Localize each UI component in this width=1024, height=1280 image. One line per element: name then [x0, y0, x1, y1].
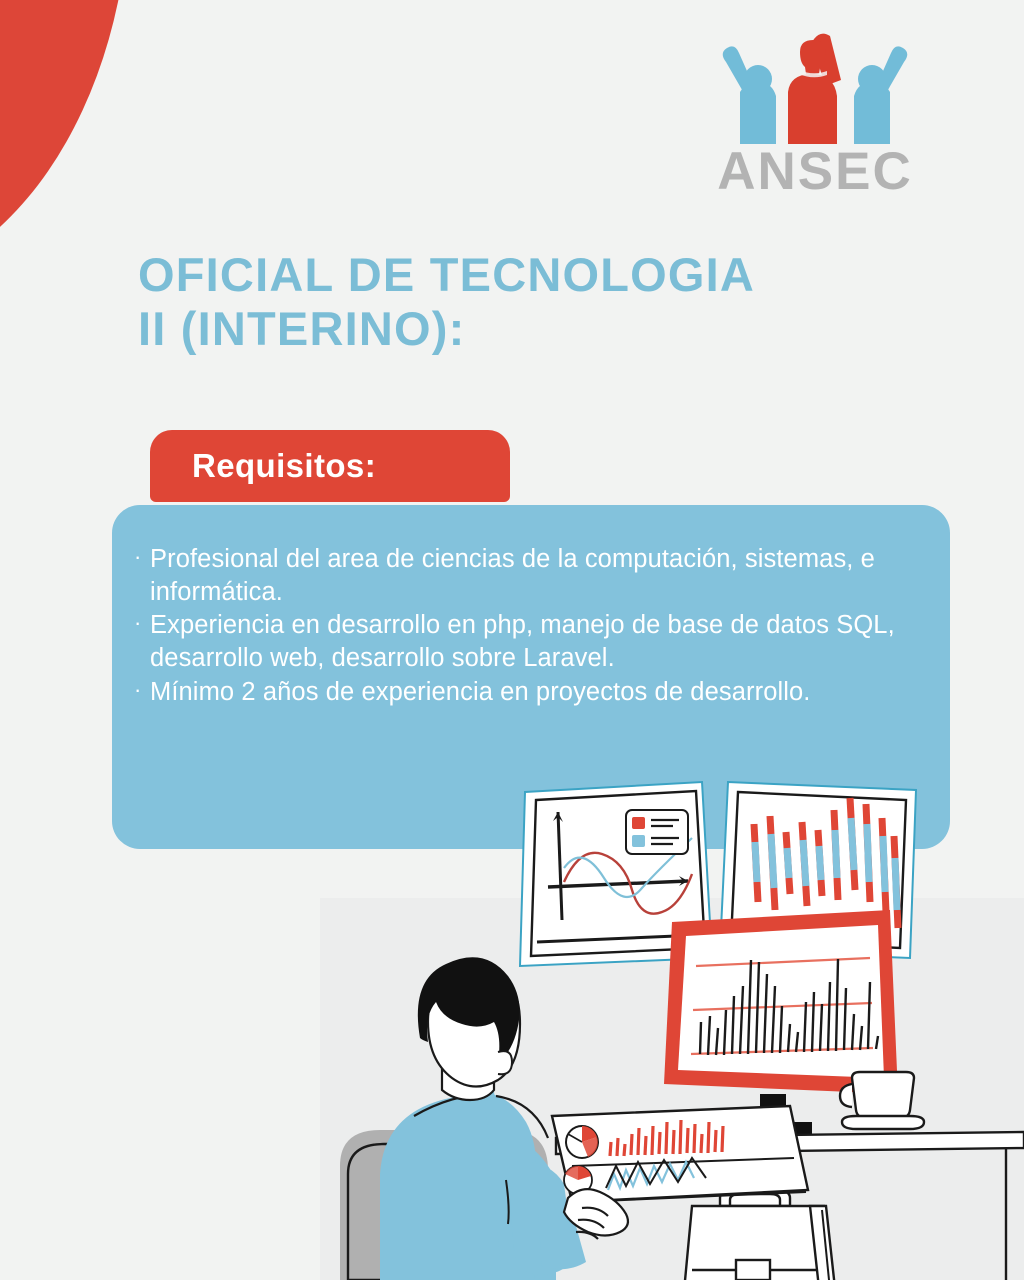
ear: [498, 1051, 512, 1074]
ansec-logo: ANSEC: [700, 26, 930, 201]
requisitos-tab: Requisitos:: [150, 430, 510, 502]
legend-swatch-red: [632, 817, 645, 829]
illustration-data-analyst: [320, 770, 1024, 1280]
list-item: · Mínimo 2 años de experiencia en proyec…: [128, 676, 940, 709]
list-item: · Experiencia en desarrollo en php, mane…: [128, 609, 940, 674]
logo-wordmark: ANSEC: [717, 142, 913, 201]
page-title-line1: OFICIAL DE TECNOLOGIA: [138, 248, 948, 302]
logo-people-icon: [723, 34, 908, 144]
requisitos-tab-label: Requisitos:: [192, 447, 376, 485]
report-paper-with-charts: [552, 1106, 808, 1202]
page-title: OFICIAL DE TECNOLOGIA II (INTERINO):: [138, 248, 948, 355]
list-item-text: Experiencia en desarrollo en php, manejo…: [150, 611, 895, 672]
bullet-glyph: ·: [134, 608, 141, 638]
poster-root: ANSEC OFICIAL DE TECNOLOGIA II (INTERINO…: [0, 0, 1024, 1280]
list-item: · Profesional del area de ciencias de la…: [128, 543, 940, 608]
legend-swatch-blue: [632, 835, 645, 847]
page-title-line2: II (INTERINO):: [138, 302, 948, 356]
list-item-text: Mínimo 2 años de experiencia en proyecto…: [150, 678, 810, 706]
red-swoosh-decoration: [0, 0, 130, 290]
bullet-glyph: ·: [134, 542, 141, 572]
bullet-glyph: ·: [134, 675, 141, 705]
requisitos-list: · Profesional del area de ciencias de la…: [128, 543, 940, 709]
list-item-text: Profesional del area de ciencias de la c…: [150, 545, 875, 606]
